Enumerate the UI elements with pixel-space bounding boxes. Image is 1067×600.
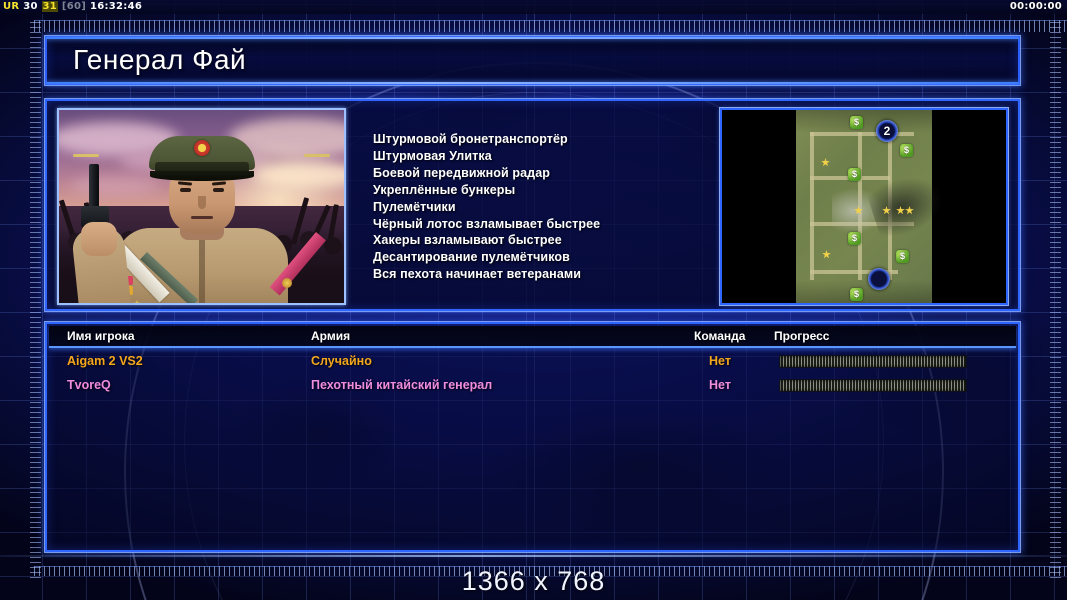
minimap[interactable]: 2 [720, 108, 1008, 305]
cap-badge-icon [194, 140, 210, 156]
general-info-panel: Штурмовой бронетранспортёр Штурмовая Ули… [45, 99, 1020, 311]
map-star-icon [821, 158, 830, 167]
ability-item: Штурмовая Улитка [373, 148, 743, 165]
player-team[interactable]: Нет [709, 378, 731, 392]
status-bracket: [60] [62, 1, 86, 12]
portrait-eye [180, 188, 191, 192]
player-name[interactable]: Aigam 2 VS2 [67, 354, 143, 368]
portrait-cap-brim [150, 171, 254, 181]
portrait-cloud [69, 176, 159, 196]
main-frame: Генерал Фай [45, 36, 1020, 552]
minimap-terrain: 2 [796, 110, 932, 303]
status-clock: 16:32:46 [90, 1, 142, 12]
medal-icon [282, 278, 292, 288]
player-name[interactable]: TvoreQ [67, 378, 111, 392]
map-star-icon [822, 250, 831, 259]
portrait-brow [177, 181, 191, 185]
supply-dock-icon [850, 116, 863, 129]
ability-item: Боевой передвижной радар [373, 165, 743, 182]
general-portrait [57, 108, 346, 305]
supply-dock-icon [850, 288, 863, 301]
supply-dock-icon [848, 168, 861, 181]
player-list-header: Имя игрока Армия Команда Прогресс [49, 326, 1016, 348]
column-header-name: Имя игрока [67, 329, 135, 343]
portrait-mouth [191, 216, 213, 219]
status-highlight: 31 [42, 1, 59, 12]
map-road [810, 132, 914, 136]
title-panel: Генерал Фай [45, 36, 1020, 85]
player-list-panel: Имя игрока Армия Команда Прогресс Aigam … [45, 322, 1020, 552]
ruler-right [1050, 22, 1061, 578]
ability-item: Пулемётчики [373, 199, 743, 216]
resolution-divider [0, 555, 1067, 557]
page-title: Генерал Фай [73, 44, 246, 76]
status-value: 30 [23, 1, 38, 12]
ability-item: Укреплённые бункеры [373, 182, 743, 199]
portrait-brow [211, 181, 225, 185]
status-timer: 00:00:00 [1010, 0, 1062, 14]
table-row[interactable]: TvoreQ Пехотный китайский генерал Нет [49, 376, 1016, 400]
resolution-overlay: 1366 x 768 [0, 566, 1067, 597]
portrait-eye [213, 188, 224, 192]
status-label: UR [3, 1, 19, 12]
supply-dock-icon [896, 250, 909, 263]
ruler-top [34, 20, 1067, 32]
column-header-army: Армия [311, 329, 350, 343]
table-row[interactable]: Aigam 2 VS2 Случайно Нет [49, 352, 1016, 376]
player-team[interactable]: Нет [709, 354, 731, 368]
ability-item: Десантирование пулемётчиков [373, 249, 743, 266]
column-header-progress: Прогресс [774, 329, 829, 343]
status-bar-left: UR 30 31 [60] 16:32:46 [3, 0, 142, 14]
ability-item: Штурмовой бронетранспортёр [373, 131, 743, 148]
player-progress-bar [779, 355, 967, 368]
ruler-left [30, 22, 41, 578]
status-bar: UR 30 31 [60] 16:32:46 00:00:00 [0, 0, 1067, 14]
player-army[interactable]: Случайно [311, 354, 372, 368]
ability-item: Вся пехота начинает ветеранами [373, 266, 743, 283]
cap-scramble [304, 154, 330, 157]
player-progress-bar [779, 379, 967, 392]
supply-dock-icon [900, 144, 913, 157]
portrait-hand [81, 222, 117, 256]
ability-item: Чёрный лотос взламывает быстрее [373, 216, 743, 233]
map-road [810, 132, 814, 280]
cap-scramble [73, 154, 99, 157]
ability-item: Хакеры взламывают быстрее [373, 232, 743, 249]
column-header-team: Команда [694, 329, 745, 343]
player-army[interactable]: Пехотный китайский генерал [311, 378, 492, 392]
map-start-position-2: 2 [876, 120, 898, 142]
map-start-position-1 [868, 268, 890, 290]
general-abilities-list: Штурмовой бронетранспортёр Штурмовая Ули… [373, 131, 743, 283]
portrait-nose [198, 196, 206, 209]
supply-dock-icon [848, 232, 861, 245]
